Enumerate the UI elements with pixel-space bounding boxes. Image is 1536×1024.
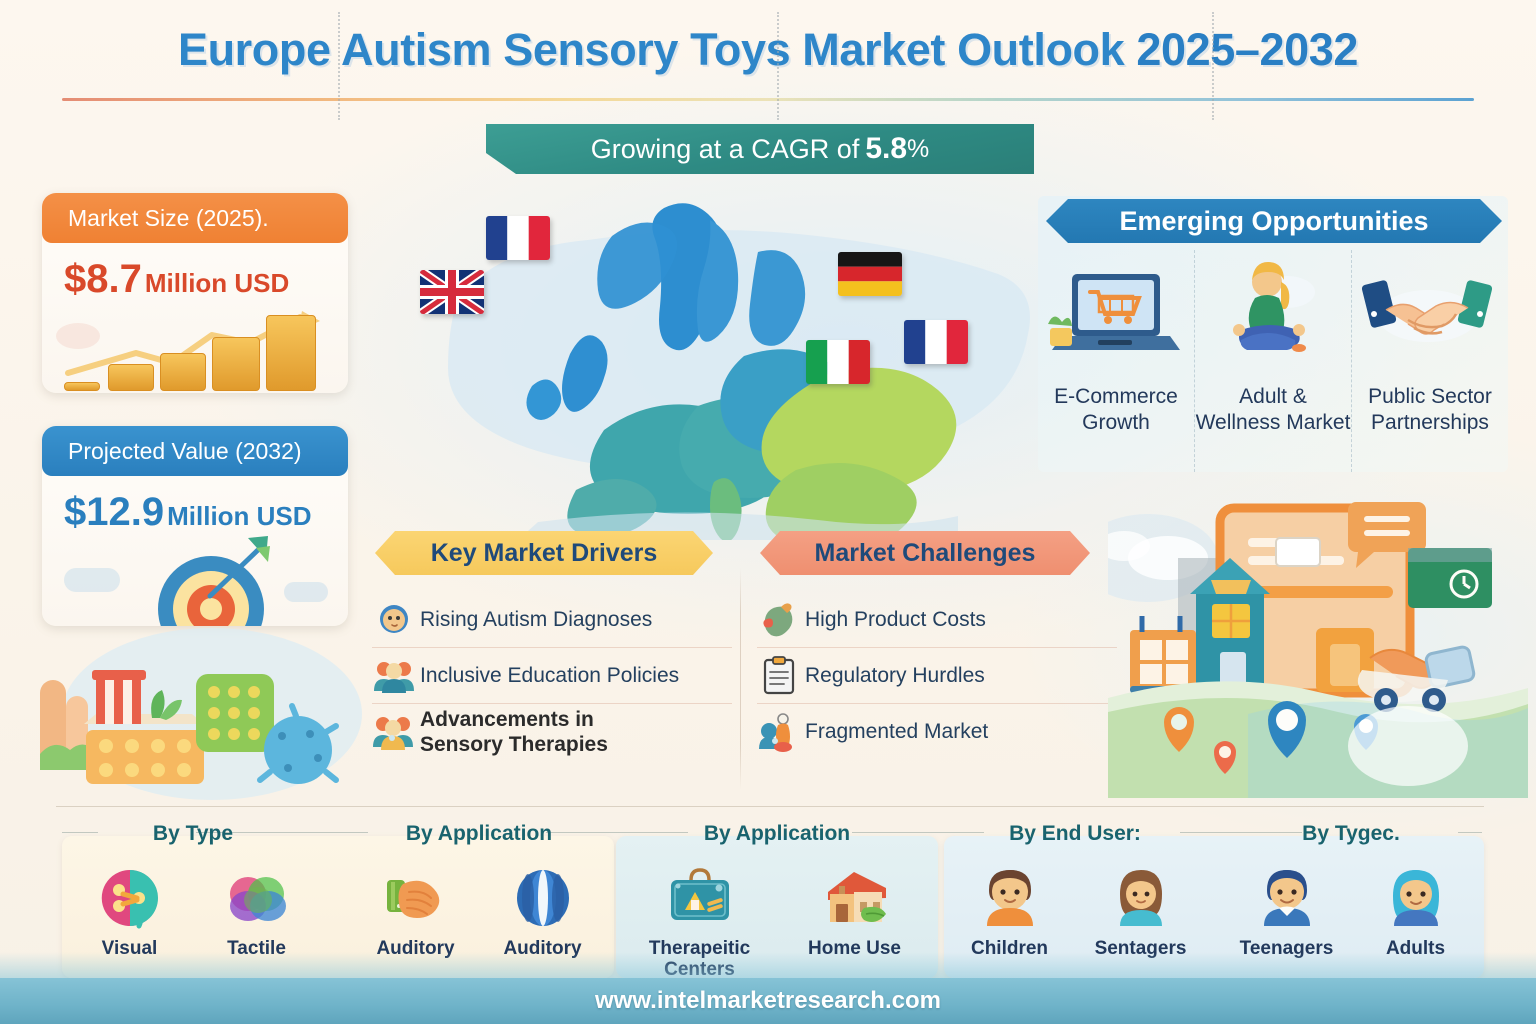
- group-people-three-icon: [372, 711, 420, 753]
- visual-palette-icon: [95, 864, 165, 930]
- segmentation-separator: [777, 12, 779, 120]
- market-challenges-heading: Market Challenges: [760, 531, 1090, 575]
- segmentation-separator: [1212, 12, 1214, 120]
- cloud-decoration: [284, 582, 328, 602]
- cagr-prefix: Growing at a CAGR of: [591, 134, 860, 165]
- teen-boy-avatar-icon: [1252, 864, 1322, 930]
- france-flag-top: [486, 216, 550, 260]
- driver-item: Inclusive Education Policies: [372, 648, 732, 704]
- opportunity-label: Public Sector Partnerships: [1352, 384, 1508, 435]
- coin-growth-chart-icon: [42, 297, 348, 393]
- germany-flag: [838, 252, 902, 296]
- market-challenges-list: High Product Costs Regulatory Hurdles: [757, 592, 1117, 760]
- segmentation-group-title: By End User:: [944, 822, 1206, 846]
- footer-bar: www.intelmarketresearch.com: [0, 978, 1536, 1024]
- fragmented-pieces-icon: [757, 711, 805, 753]
- europe-map: [398, 178, 1032, 540]
- segmentation-item: Auditory: [479, 864, 606, 959]
- segmentation-separator: [338, 12, 340, 120]
- driver-label: Inclusive Education Policies: [420, 663, 679, 688]
- cloud-decoration: [64, 568, 120, 592]
- yoga-person-icon: [1195, 258, 1351, 370]
- segmentation-group-title: By Tygec.: [1222, 822, 1480, 846]
- website-url[interactable]: www.intelmarketresearch.com: [595, 987, 941, 1015]
- adult-woman-avatar-icon: [1381, 864, 1451, 930]
- segmentation-item: Teenagers: [1222, 864, 1351, 959]
- challenge-label: High Product Costs: [805, 607, 986, 632]
- segmentation-divider: [56, 806, 1484, 807]
- projected-value-value-row: $12.9Million USD: [42, 476, 348, 535]
- projected-value-card: Projected Value (2032) $12.9Million USD: [42, 426, 348, 626]
- hand-clap-icon: [381, 864, 451, 930]
- segmentation-item: Home Use: [777, 864, 932, 959]
- emerging-opportunities-columns: E-Commerce Growth Adult & Wellness Marke…: [1038, 250, 1508, 472]
- therapy-bag-icon: [665, 864, 735, 930]
- girl-avatar-icon: [1106, 864, 1176, 930]
- laptop-cart-icon: [1038, 258, 1194, 370]
- italy-flag: [806, 340, 870, 384]
- challenge-item: Regulatory Hurdles: [757, 648, 1117, 704]
- sensory-toys-illustration: [34, 622, 364, 812]
- tactile-blobs-icon: [222, 864, 292, 930]
- segmentation-item: Sentagers: [1075, 864, 1206, 959]
- france-flag-right: [904, 320, 968, 364]
- key-market-drivers-heading: Key Market Drivers: [375, 531, 713, 575]
- market-size-card: Market Size (2025). $8.7Million USD: [42, 193, 348, 393]
- title-years: 2025–2032: [1136, 24, 1358, 75]
- segmentation-group-title: By Application: [352, 822, 606, 846]
- section-divider: [740, 568, 741, 790]
- clipboard-icon: [757, 655, 805, 697]
- cagr-percent-symbol: %: [907, 135, 929, 164]
- price-tag-icon: [757, 599, 805, 641]
- opportunity-item: E-Commerce Growth: [1038, 250, 1195, 472]
- challenge-label: Regulatory Hurdles: [805, 663, 985, 688]
- handshake-icon: [1352, 258, 1508, 370]
- market-size-unit: Million USD: [145, 268, 289, 298]
- key-market-drivers-list: Rising Autism Diagnoses Inclusive Educat…: [372, 592, 732, 760]
- boy-avatar-icon: [975, 864, 1045, 930]
- projected-value-heading: Projected Value (2032): [42, 426, 348, 476]
- title-text: Europe Autism Sensory Toys Market Outloo…: [178, 24, 1124, 75]
- segmentation-item: Auditory: [352, 864, 479, 959]
- footer-glow: [0, 952, 1536, 978]
- projected-value-value: $12.9: [64, 490, 164, 534]
- retail-distribution-illustration: [1108, 498, 1528, 798]
- driver-item: Advancements in Sensory Therapies: [372, 704, 732, 760]
- target-arrow-icon: [158, 556, 264, 626]
- segmentation-item: Visual: [66, 864, 193, 959]
- segmentation-item: Tactile: [193, 864, 320, 959]
- driver-label: Rising Autism Diagnoses: [420, 607, 652, 632]
- cagr-value: 5.8: [865, 132, 907, 166]
- challenge-item: Fragmented Market: [757, 704, 1117, 760]
- opportunity-label: E-Commerce Growth: [1038, 384, 1194, 435]
- driver-label: Advancements in Sensory Therapies: [420, 707, 608, 757]
- segmentation-item: Children: [944, 864, 1075, 959]
- market-size-value-row: $8.7Million USD: [42, 243, 348, 302]
- driver-item: Rising Autism Diagnoses: [372, 592, 732, 648]
- challenge-item: High Product Costs: [757, 592, 1117, 648]
- market-size-value: $8.7: [64, 257, 142, 301]
- group-people-icon: [372, 655, 420, 697]
- opportunity-item: Adult & Wellness Market: [1195, 250, 1352, 472]
- uk-flag: [420, 270, 484, 314]
- emerging-opportunities-heading: Emerging Opportunities: [1046, 199, 1502, 243]
- segmentation-group-title: By Type: [66, 822, 320, 846]
- projected-value-unit: Million USD: [167, 501, 311, 531]
- sound-ball-icon: [508, 864, 578, 930]
- opportunity-item: Public Sector Partnerships: [1352, 250, 1508, 472]
- challenge-label: Fragmented Market: [805, 719, 988, 744]
- child-face-icon: [372, 599, 420, 641]
- infographic-canvas: Europe Autism Sensory Toys Market Outloo…: [0, 0, 1536, 1024]
- segmentation-group-title: By Application: [622, 822, 932, 846]
- cagr-banner: Growing at a CAGR of 5.8 %: [486, 124, 1034, 174]
- house-icon: [820, 864, 890, 930]
- segmentation-item: Adults: [1351, 864, 1480, 959]
- title-divider: [62, 98, 1474, 101]
- page-title: Europe Autism Sensory Toys Market Outloo…: [0, 24, 1536, 76]
- market-size-heading: Market Size (2025).: [42, 193, 348, 243]
- opportunity-label: Adult & Wellness Market: [1195, 384, 1351, 435]
